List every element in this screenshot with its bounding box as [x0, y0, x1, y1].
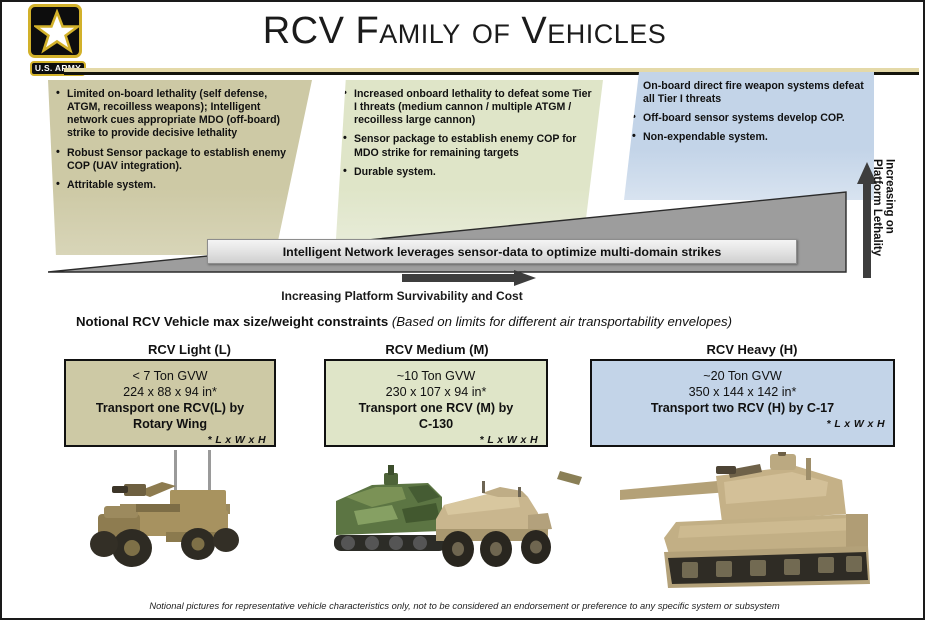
- heavy-capabilities-panel: On-board direct fire weapon systems defe…: [624, 72, 874, 200]
- spec-transport-2: C-130: [334, 416, 538, 432]
- spec-transport-1: Transport one RCV(L) by: [74, 400, 266, 416]
- rcv-heavy-vehicle-image: [620, 452, 910, 607]
- panel-bullet: Durable system.: [343, 166, 593, 179]
- panel-bullet: On-board direct fire weapon systems defe…: [632, 80, 864, 106]
- section-heading-italic: (Based on limits for different air trans…: [392, 314, 732, 329]
- spec-dims: 230 x 107 x 94 in*: [334, 384, 538, 400]
- footer-disclaimer: Notional pictures for representative veh…: [2, 600, 925, 611]
- slide-canvas: U.S. ARMY RCV Family of Vehicles Limited…: [0, 0, 925, 620]
- survivability-axis-label: Increasing Platform Survivability and Co…: [2, 289, 802, 303]
- panel-bullet: Off-board sensor systems develop COP.: [632, 112, 864, 125]
- spec-gvw: ~20 Ton GVW: [600, 368, 885, 384]
- panel-bullet: Sensor package to establish enemy COP fo…: [343, 133, 593, 159]
- spec-box-light: < 7 Ton GVW 224 x 88 x 94 in* Transport …: [64, 359, 276, 447]
- page-title: RCV Family of Vehicles: [2, 10, 925, 53]
- section-heading: Notional RCV Vehicle max size/weight con…: [76, 314, 921, 329]
- spec-transport-2: Rotary Wing: [74, 416, 266, 432]
- spec-footnote: * L x W x H: [600, 418, 885, 430]
- class-title-light: RCV Light (L): [77, 342, 302, 357]
- spec-box-medium: ~10 Ton GVW 230 x 107 x 94 in* Transport…: [324, 359, 548, 447]
- spec-box-heavy: ~20 Ton GVW 350 x 144 x 142 in* Transpor…: [590, 359, 895, 447]
- rcv-light-vehicle-image: [74, 448, 284, 593]
- panel-bullet: Limited on-board lethality (self defense…: [56, 88, 302, 141]
- spec-transport-1: Transport one RCV (M) by: [334, 400, 538, 416]
- intelligent-network-banner: Intelligent Network leverages sensor-dat…: [207, 239, 797, 264]
- panel-bullet: Robust Sensor package to establish enemy…: [56, 147, 302, 173]
- spec-dims: 224 x 88 x 94 in*: [74, 384, 266, 400]
- class-title-heavy: RCV Heavy (H): [602, 342, 902, 357]
- spec-gvw: < 7 Ton GVW: [74, 368, 266, 384]
- spec-gvw: ~10 Ton GVW: [334, 368, 538, 384]
- spec-dims: 350 x 144 x 142 in*: [600, 384, 885, 400]
- panel-bullet: Non-expendable system.: [632, 131, 864, 144]
- lethality-axis-label: Increasing on Platform Lethality: [871, 159, 895, 256]
- spec-footnote: * L x W x H: [334, 434, 538, 446]
- panel-bullet: Increased onboard lethality to defeat so…: [343, 88, 593, 127]
- section-heading-bold: Notional RCV Vehicle max size/weight con…: [76, 314, 388, 329]
- spec-footnote: * L x W x H: [74, 434, 266, 446]
- spec-transport-1: Transport two RCV (H) by C-17: [600, 400, 885, 416]
- class-title-medium: RCV Medium (M): [317, 342, 557, 357]
- rcv-medium-vehicle-image: [332, 457, 592, 597]
- survivability-arrow-icon: [402, 270, 537, 286]
